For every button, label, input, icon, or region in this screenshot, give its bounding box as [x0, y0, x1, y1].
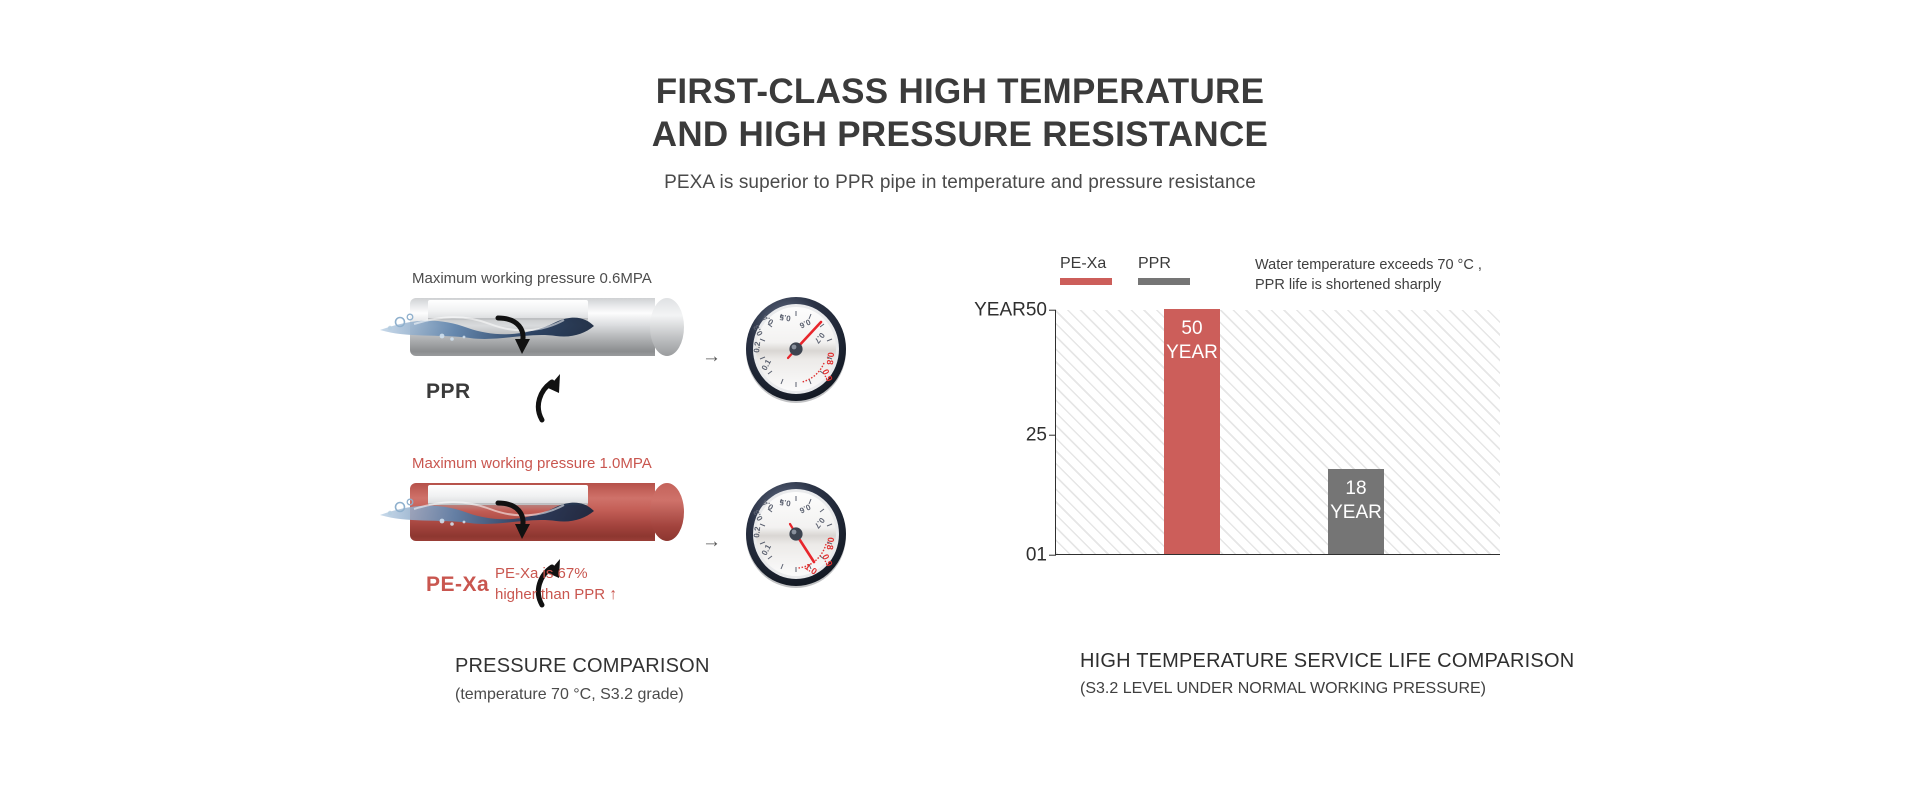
pressure-comparison-panel: Maximum working pressure 0.6MPA — [390, 270, 870, 670]
chart-bar-label: 50YEAR — [1164, 317, 1220, 365]
service-life-caption: HIGH TEMPERATURE SERVICE LIFE COMPARISON… — [1080, 650, 1574, 698]
pressure-caption-title: PRESSURE COMPARISON — [455, 655, 915, 678]
ppr-flow-arrow-icon: → — [702, 346, 721, 368]
legend-label-pexa: PE-Xa — [1060, 255, 1106, 273]
pexa-pipe-illustration: → — [410, 483, 672, 541]
pexa-note-line-2: higher than PPR — [495, 586, 605, 603]
pexa-pipe-label: PE-Xa — [426, 573, 489, 597]
pressure-comparison-caption: PRESSURE COMPARISON (temperature 70 °C, … — [455, 655, 915, 704]
chart-plot-wrapper: 0125YEAR5050YEAR18YEAR — [1055, 310, 1500, 555]
pexa-pipe-block: Maximum working pressure 1.0MPA — [390, 455, 870, 625]
y-axis-tick-label: YEAR50 — [974, 299, 1047, 321]
chart-plot-area: 0125YEAR5050YEAR18YEAR — [1055, 310, 1500, 555]
svg-text:0.8: 0.8 — [825, 537, 836, 550]
y-axis-tick: 25 — [936, 435, 1056, 436]
chart-annotation-line-2: PPR life is shortened sharply — [1255, 275, 1482, 295]
service-life-caption-title: HIGH TEMPERATURE SERVICE LIFE COMPARISON — [1080, 650, 1574, 673]
chart-annotation: Water temperature exceeds 70 °C , PPR li… — [1255, 255, 1482, 295]
ppr-pipe-illustration: → — [410, 298, 672, 356]
svg-text:0.5: 0.5 — [778, 312, 791, 323]
legend-item-ppr: PPR — [1138, 255, 1190, 285]
y-axis-tick-mark — [1049, 554, 1056, 556]
pexa-pressure-caption: Maximum working pressure 1.0MPA — [412, 455, 652, 472]
pressure-caption-subtitle: (temperature 70 °C, S3.2 grade) — [455, 686, 915, 704]
chart-bar-value: 18 — [1328, 477, 1384, 501]
svg-text:0.2: 0.2 — [752, 341, 762, 354]
chart-bar: 50YEAR — [1164, 309, 1220, 554]
chart-annotation-line-1: Water temperature exceeds 70 °C , — [1255, 255, 1482, 275]
chart-bar: 18YEAR — [1328, 469, 1384, 554]
arrow-up-icon: ↑ — [609, 586, 617, 603]
ppr-pipe-block: Maximum working pressure 0.6MPA — [390, 270, 870, 440]
legend-item-pexa: PE-Xa — [1060, 255, 1112, 285]
page-title-line-2: AND HIGH PRESSURE RESISTANCE — [0, 113, 1920, 156]
chart-legend: PE-Xa PPR — [1060, 255, 1190, 285]
chart-bar-unit: YEAR — [1164, 341, 1220, 365]
pexa-pipe-end-cap — [650, 483, 684, 541]
legend-swatch-ppr — [1138, 278, 1190, 285]
ppr-pipe-label: PPR — [426, 380, 471, 404]
page-title-line-1: FIRST-CLASS HIGH TEMPERATURE — [0, 70, 1920, 113]
pexa-pressure-gauge: 0.1 0.2 0.3 0.4 0.5 0.6 0.7 0.8 0.9 1.0 — [742, 480, 850, 588]
legend-swatch-pexa — [1060, 278, 1112, 285]
header: FIRST-CLASS HIGH TEMPERATURE AND HIGH PR… — [0, 70, 1920, 194]
pexa-callout-arrow-top — [492, 499, 538, 548]
chart-bar-label: 18YEAR — [1328, 477, 1384, 525]
service-life-caption-subtitle: (S3.2 LEVEL UNDER NORMAL WORKING PRESSUR… — [1080, 680, 1574, 698]
poster-root: FIRST-CLASS HIGH TEMPERATURE AND HIGH PR… — [0, 0, 1920, 800]
ppr-callout-arrow-top — [492, 314, 538, 363]
svg-text:0.8: 0.8 — [825, 352, 836, 365]
pexa-note-line-1: PE-Xa is 67% — [495, 563, 617, 584]
service-life-chart: PE-Xa PPR Water temperature exceeds 70 °… — [1000, 255, 1560, 615]
svg-text:0.2: 0.2 — [752, 526, 762, 539]
ppr-callout-arrow-bottom — [526, 362, 572, 429]
y-axis-tick-label: 25 — [1026, 424, 1047, 446]
y-axis-tick: YEAR50 — [936, 310, 1056, 311]
pexa-advantage-note: PE-Xa is 67% higher than PPR ↑ — [495, 563, 617, 605]
ppr-pressure-caption: Maximum working pressure 0.6MPA — [412, 270, 652, 287]
pexa-flow-arrow-icon: → — [702, 531, 721, 553]
svg-text:0.5: 0.5 — [778, 497, 791, 508]
chart-bar-unit: YEAR — [1328, 501, 1384, 525]
page-subtitle: PEXA is superior to PPR pipe in temperat… — [0, 172, 1920, 194]
legend-label-ppr: PPR — [1138, 255, 1171, 273]
chart-bar-value: 50 — [1164, 317, 1220, 341]
y-axis-tick-label: 01 — [1026, 544, 1047, 566]
y-axis-tick: 01 — [936, 555, 1056, 556]
y-axis-tick-mark — [1049, 434, 1056, 436]
y-axis-tick-mark — [1049, 309, 1056, 311]
ppr-pipe-end-cap — [650, 298, 684, 356]
ppr-pressure-gauge: 0.1 0.2 0.3 0.4 0.5 0.6 0.7 0.8 0.9 — [742, 295, 850, 403]
